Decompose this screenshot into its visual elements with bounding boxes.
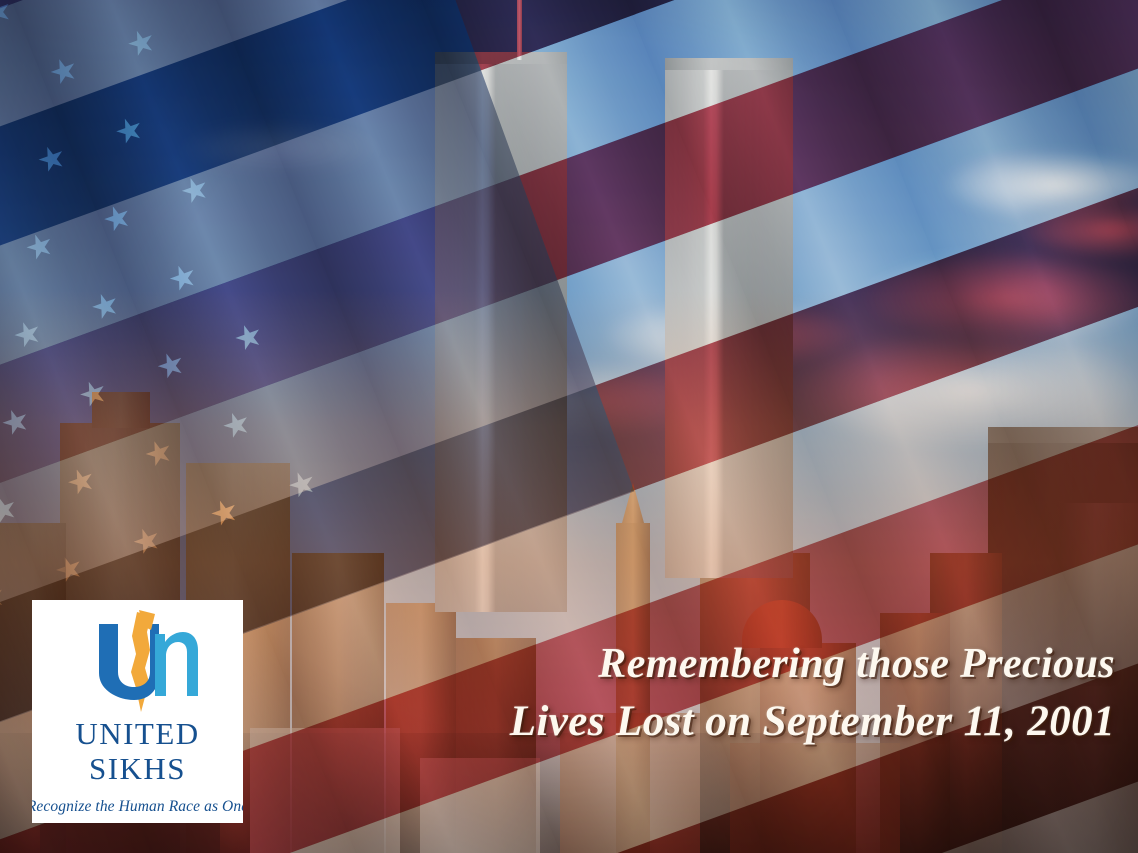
logo-name-line-2: SIKHS bbox=[89, 753, 186, 786]
united-sikhs-logo: UNITED SIKHS Recognize the Human Race as… bbox=[32, 600, 243, 823]
logo-tagline: Recognize the Human Race as One bbox=[32, 798, 243, 816]
logo-name-line-1: UNITED bbox=[75, 718, 199, 751]
memorial-headline: Remembering those Precious Lives Lost on… bbox=[255, 636, 1115, 750]
headline-line-1: Remembering those Precious bbox=[255, 636, 1115, 693]
un-monogram-icon bbox=[73, 610, 203, 714]
headline-line-2: Lives Lost on September 11, 2001 bbox=[255, 693, 1115, 750]
memorial-image: Remembering those Precious Lives Lost on… bbox=[0, 0, 1138, 853]
united-sikhs-logo-mark bbox=[73, 610, 203, 714]
